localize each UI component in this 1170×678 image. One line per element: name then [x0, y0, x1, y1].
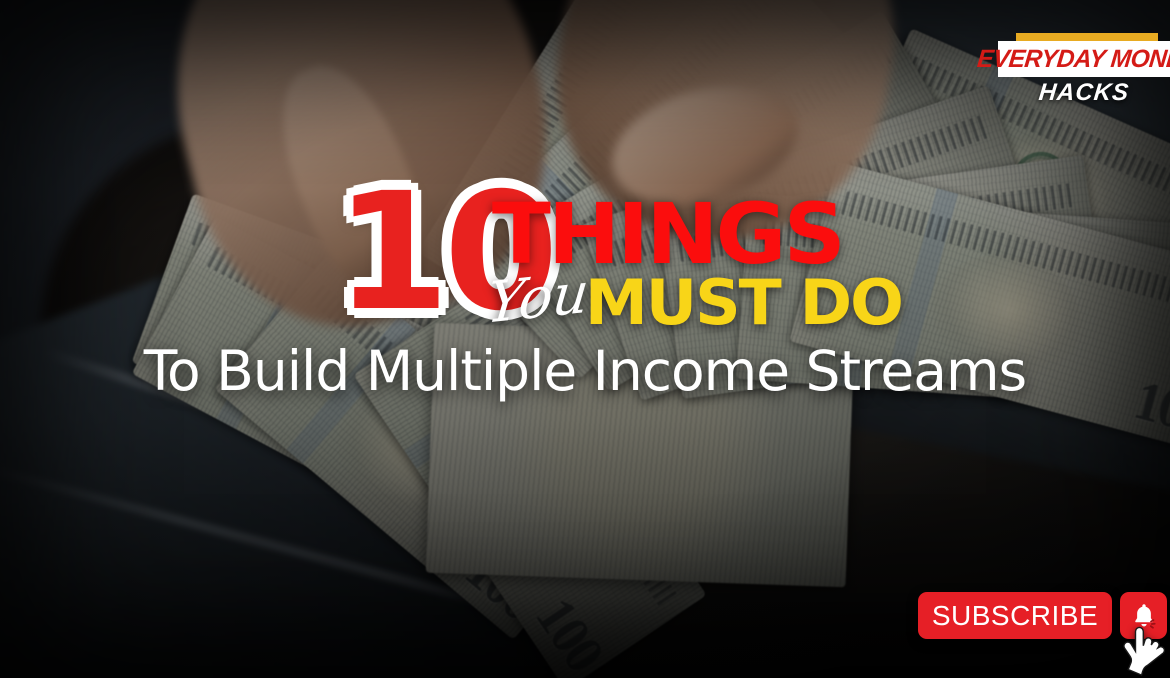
subtitle-text: To Build Multiple Income Streams — [0, 340, 1170, 402]
headline-things: THINGS — [492, 192, 843, 276]
thumbnail-canvas: 100 100 100 100 100 100 100 100 100 100 … — [0, 0, 1170, 678]
logo-name: EVERYDAY MONEY — [975, 45, 1170, 74]
logo-white-banner: EVERYDAY MONEY — [998, 41, 1170, 77]
subscribe-button-label: SUBSCRIBE — [932, 600, 1098, 632]
title-block: 10 THINGS You MUST DO — [0, 176, 1170, 348]
headline-row: 10 THINGS You MUST DO — [0, 176, 1170, 348]
logo-subtitle: HACKS — [997, 79, 1170, 107]
subscribe-button[interactable]: SUBSCRIBE — [918, 592, 1112, 639]
headline-must-do: MUST DO — [585, 272, 902, 334]
headline-you: You — [484, 265, 591, 333]
hand-cursor-icon — [1121, 625, 1167, 678]
channel-logo: EVERYDAY MONEY HACKS — [998, 33, 1170, 109]
